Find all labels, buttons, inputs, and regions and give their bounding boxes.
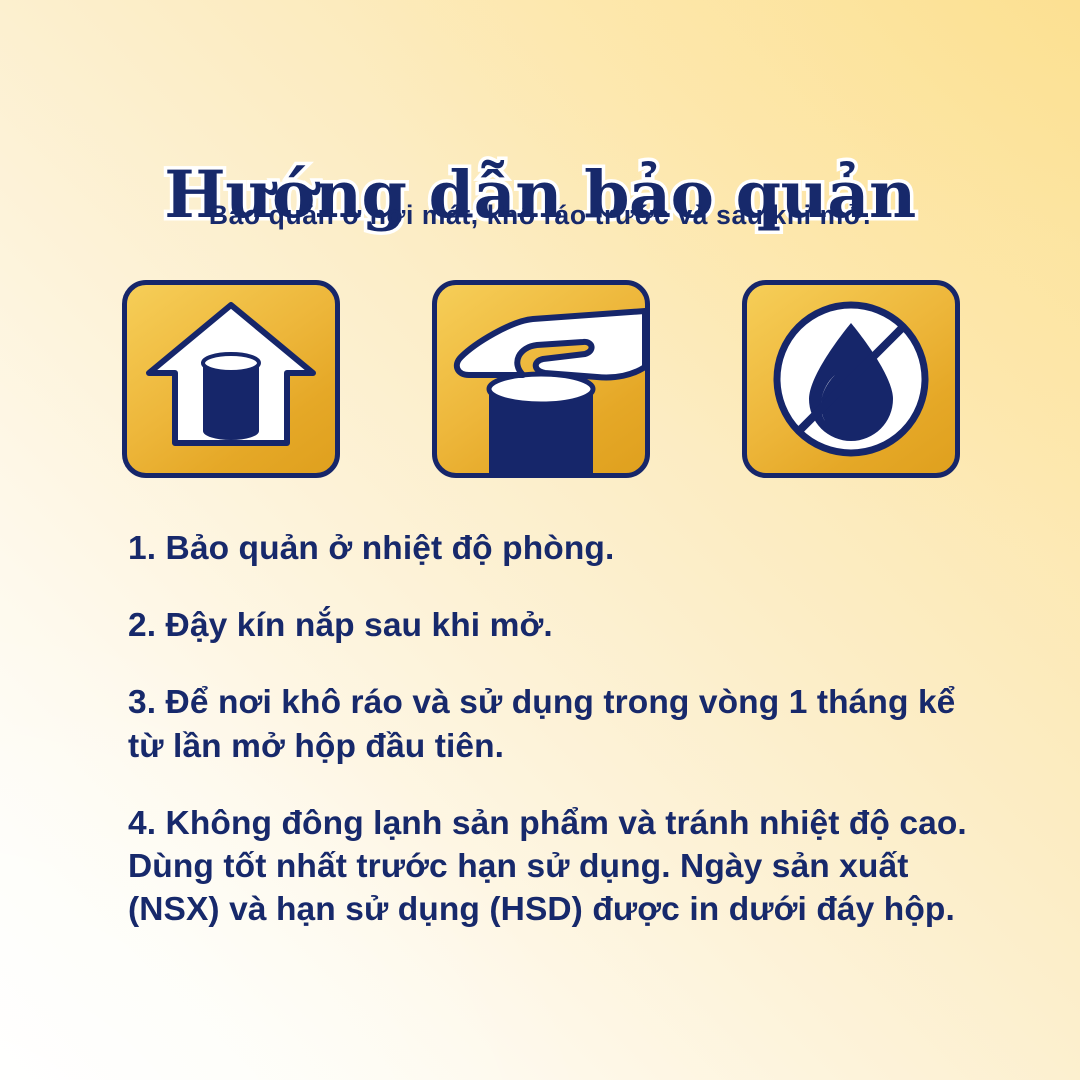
icon-tile-lid bbox=[432, 280, 650, 478]
list-item: 1. Bảo quản ở nhiệt độ phòng. bbox=[128, 527, 976, 570]
list-item: 3. Để nơi khô ráo và sử dụng trong vòng … bbox=[128, 681, 976, 767]
list-item: 2. Đậy kín nắp sau khi mở. bbox=[128, 604, 976, 647]
page-subtitle: Bảo quản ở nơi mát, khô ráo trước và sau… bbox=[0, 200, 1080, 231]
list-item: 4. Không đông lạnh sản phẩm và tránh nhi… bbox=[128, 802, 976, 932]
icon-tile-no-moisture bbox=[742, 280, 960, 478]
icon-tile-house bbox=[122, 280, 340, 478]
title-container: Hướng dẫn bảo quản bbox=[0, 118, 1080, 271]
no-moisture-droplet-icon bbox=[747, 285, 955, 473]
house-with-can-icon bbox=[127, 285, 335, 473]
icon-tile-row bbox=[122, 280, 962, 480]
storage-instructions-poster: Hướng dẫn bảo quản Bảo quản ở nơi mát, k… bbox=[0, 0, 1080, 1080]
instruction-list: 1. Bảo quản ở nhiệt độ phòng. 2. Đậy kín… bbox=[128, 527, 976, 931]
hand-closing-lid-icon bbox=[437, 285, 645, 473]
